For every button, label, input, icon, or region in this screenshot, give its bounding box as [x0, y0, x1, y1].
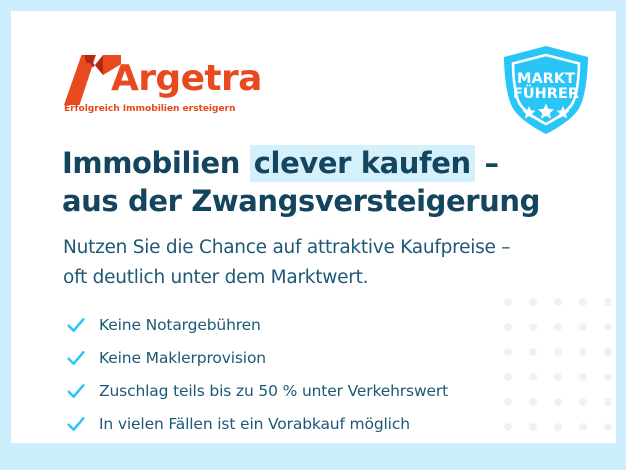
dot: [604, 373, 612, 381]
dot: [604, 348, 612, 356]
list-item-label: Zuschlag teils bis zu 50 % unter Verkehr…: [99, 382, 448, 400]
check-icon: [65, 413, 87, 435]
dot: [504, 298, 512, 306]
list-item-label: In vielen Fällen ist ein Vorabkauf mögli…: [99, 415, 410, 433]
dot: [579, 423, 587, 431]
dot: [579, 373, 587, 381]
dot: [604, 423, 612, 431]
list-item: Zuschlag teils bis zu 50 % unter Verkehr…: [65, 376, 535, 406]
logo-tagline: Erfolgreich Immobilien ersteigern: [64, 103, 235, 114]
subheadline-line-2: oft deutlich unter dem Marktwert.: [63, 263, 563, 293]
headline-line1-before: Immobilien: [62, 146, 250, 180]
logo-wordmark: Argetra: [111, 61, 262, 97]
list-item: Keine Maklerprovision: [65, 343, 535, 373]
dot: [579, 298, 587, 306]
list-item: In vielen Fällen ist ein Vorabkauf mögli…: [65, 409, 535, 439]
dot: [604, 398, 612, 406]
check-icon: [65, 314, 87, 336]
headline-line1-after: –: [475, 146, 499, 180]
dot: [579, 348, 587, 356]
check-icon: [65, 347, 87, 369]
dot: [529, 298, 537, 306]
headline-highlight: clever kaufen: [250, 145, 475, 182]
markt-fuehrer-badge: MARKT FÜHRER: [498, 44, 594, 136]
subheadline: Nutzen Sie die Chance auf attraktive Kau…: [63, 233, 563, 293]
promo-banner: Argetra Erfolgreich Immobilien ersteiger…: [0, 0, 626, 470]
list-item: Keine Notargebühren: [65, 310, 535, 340]
dot: [579, 398, 587, 406]
banner-card: Argetra Erfolgreich Immobilien ersteiger…: [11, 11, 616, 443]
list-item-label: Keine Notargebühren: [99, 316, 261, 334]
dot: [554, 348, 562, 356]
list-item-label: Keine Maklerprovision: [99, 349, 266, 367]
dot: [554, 398, 562, 406]
dot-row: [496, 298, 616, 306]
dot: [554, 373, 562, 381]
badge-line2-text: FÜHRER: [513, 84, 579, 102]
dot: [604, 323, 612, 331]
argetra-logo[interactable]: Argetra Erfolgreich Immobilien ersteiger…: [63, 53, 293, 123]
dot: [579, 323, 587, 331]
badge-line1-text: MARKT: [517, 71, 575, 87]
headline-line-1: Immobilien clever kaufen –: [62, 144, 542, 182]
check-icon: [65, 380, 87, 402]
benefits-checklist: Keine Notargebühren Keine Maklerprovisio…: [65, 310, 535, 442]
headline-line-2: aus der Zwangsversteigerung: [62, 182, 542, 220]
subheadline-line-1: Nutzen Sie die Chance auf attraktive Kau…: [63, 233, 563, 263]
dot: [554, 298, 562, 306]
dot: [604, 298, 612, 306]
headline: Immobilien clever kaufen – aus der Zwang…: [62, 144, 542, 220]
dot: [554, 323, 562, 331]
dot: [554, 423, 562, 431]
